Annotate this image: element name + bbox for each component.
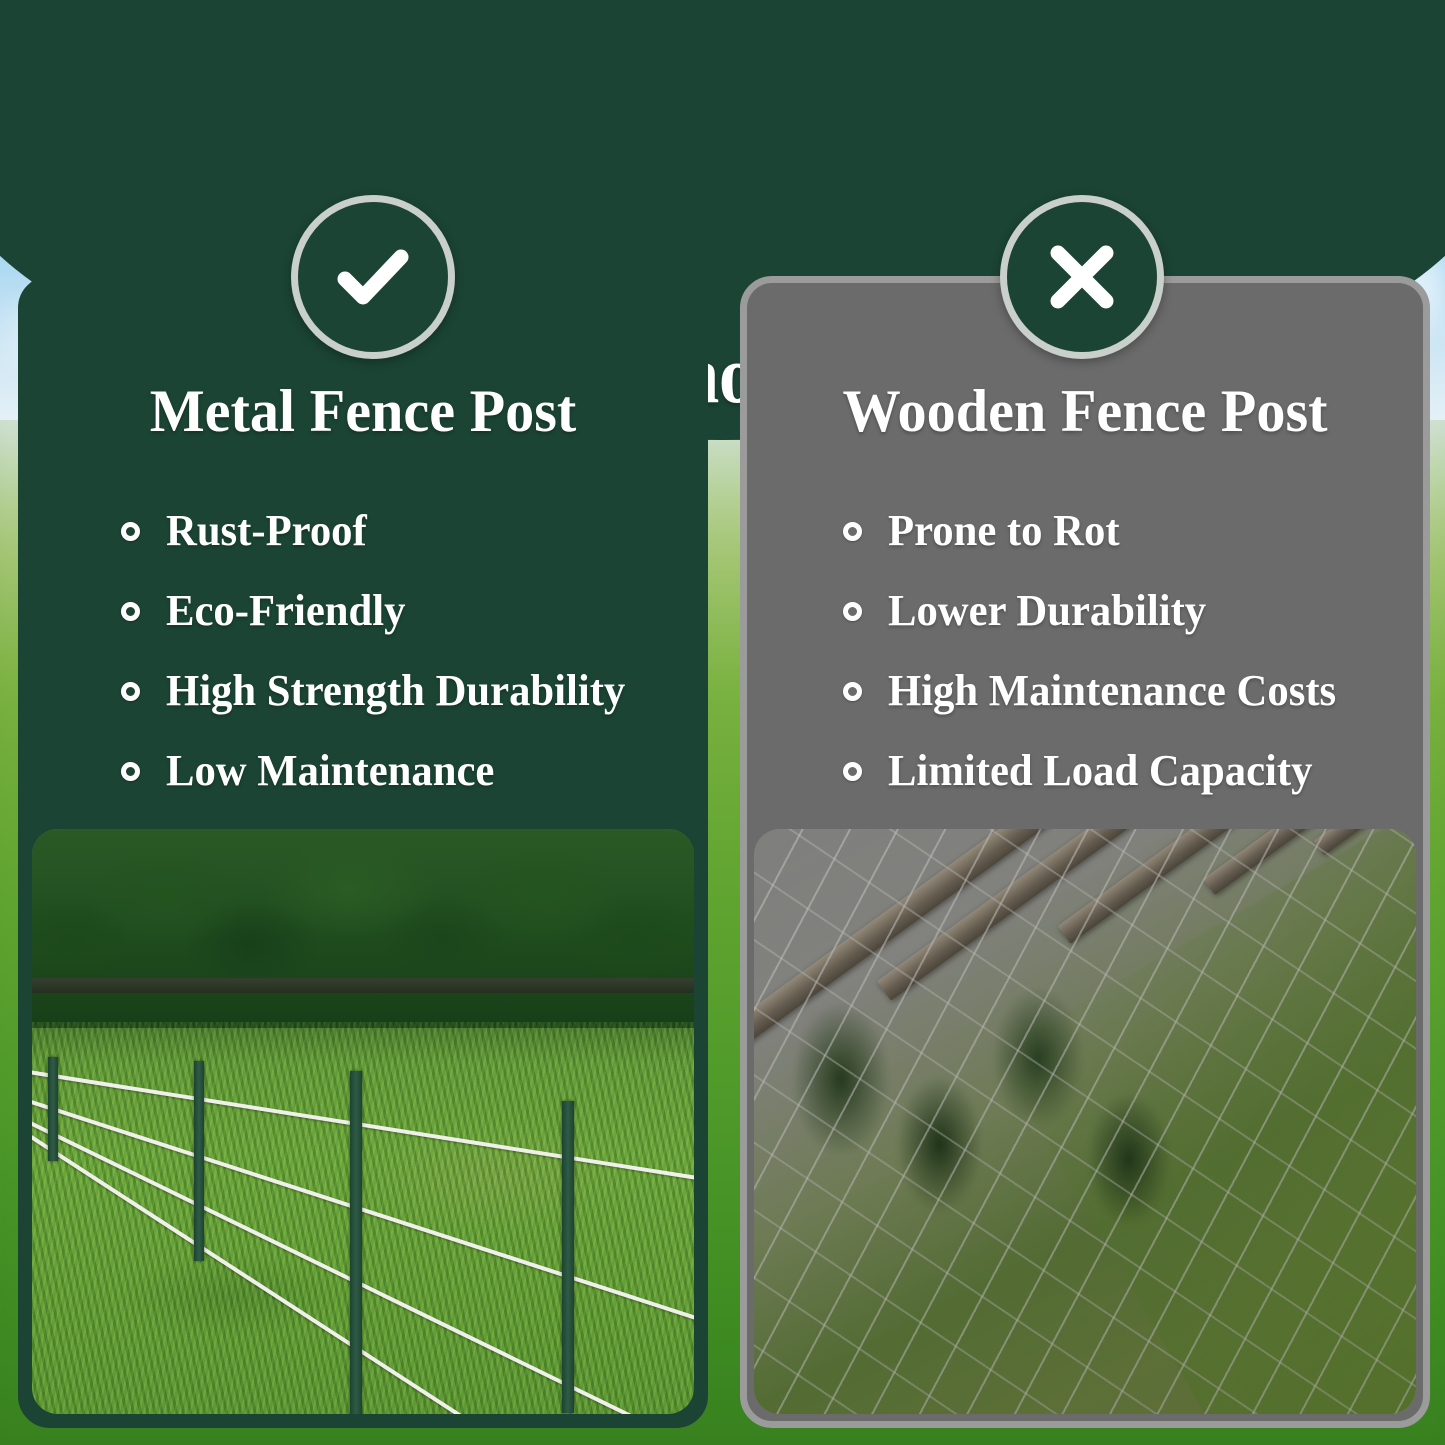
drawback-list-wooden: Prone to Rot Lower Durability High Maint… xyxy=(747,491,1423,811)
list-item-label: High Maintenance Costs xyxy=(888,669,1336,713)
list-item: Rust-Proof xyxy=(25,491,701,571)
bullet-ring-icon xyxy=(843,602,862,621)
list-item: Low Maintenance xyxy=(25,731,701,811)
list-item: Eco-Friendly xyxy=(25,571,701,651)
wooden-fence-scene xyxy=(754,829,1416,1414)
cross-icon xyxy=(1036,231,1128,323)
bullet-ring-icon xyxy=(843,682,862,701)
list-item: Limited Load Capacity xyxy=(747,731,1423,811)
status-badge-positive xyxy=(291,195,455,359)
list-item: High Strength Durability xyxy=(25,651,701,731)
bullet-ring-icon xyxy=(843,762,862,781)
card-heading-wooden: Wooden Fence Post xyxy=(757,381,1413,441)
list-item-label: Rust-Proof xyxy=(166,509,367,553)
infographic-canvas: Why Choose Us? Metal Fence Post Rust-Pro… xyxy=(0,0,1445,1445)
metal-t-post xyxy=(562,1101,574,1413)
bullet-ring-icon xyxy=(121,682,140,701)
status-badge-negative xyxy=(1000,195,1164,359)
bullet-ring-icon xyxy=(121,762,140,781)
metal-fence-scene xyxy=(32,829,694,1414)
list-item-label: Low Maintenance xyxy=(166,749,494,793)
bullet-ring-icon xyxy=(843,522,862,541)
list-item-label: Eco-Friendly xyxy=(166,589,405,633)
comparison-card-metal: Metal Fence Post Rust-Proof Eco-Friendly… xyxy=(18,276,708,1428)
benefit-list-metal: Rust-Proof Eco-Friendly High Strength Du… xyxy=(25,491,701,811)
list-item-label: Prone to Rot xyxy=(888,509,1120,553)
photo-shade-overlay xyxy=(754,829,1416,1414)
list-item: Prone to Rot xyxy=(747,491,1423,571)
check-icon xyxy=(325,229,421,325)
list-item-label: Lower Durability xyxy=(888,589,1206,633)
distant-fence-line xyxy=(32,978,694,993)
metal-t-post xyxy=(48,1057,58,1161)
bullet-ring-icon xyxy=(121,522,140,541)
comparison-columns: Metal Fence Post Rust-Proof Eco-Friendly… xyxy=(0,0,1445,1445)
list-item-label: High Strength Durability xyxy=(166,669,625,713)
treeline xyxy=(32,829,694,1028)
product-photo-metal-fence xyxy=(32,829,694,1414)
list-item-label: Limited Load Capacity xyxy=(888,749,1312,793)
metal-t-post xyxy=(194,1061,204,1261)
product-photo-wooden-fence xyxy=(754,829,1416,1414)
list-item: High Maintenance Costs xyxy=(747,651,1423,731)
bullet-ring-icon xyxy=(121,602,140,621)
comparison-card-wooden: Wooden Fence Post Prone to Rot Lower Dur… xyxy=(740,276,1430,1428)
metal-t-post xyxy=(350,1071,362,1414)
card-heading-metal: Metal Fence Post xyxy=(35,381,691,441)
list-item: Lower Durability xyxy=(747,571,1423,651)
